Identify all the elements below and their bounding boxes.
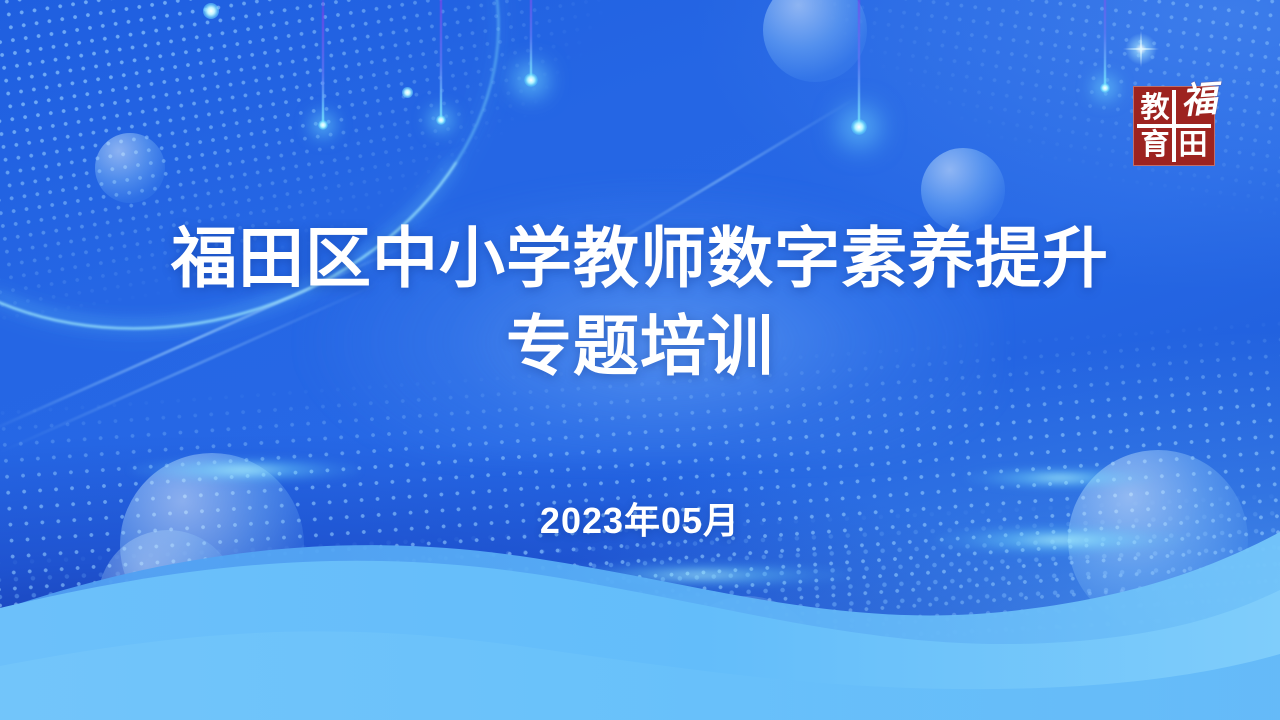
- seal-char-jiao: 教: [1138, 91, 1172, 124]
- light-streak-3: [530, 0, 532, 82]
- seal-char-fu-overlay: 福: [1174, 74, 1223, 125]
- sphere-upper-left: [95, 133, 165, 203]
- streak-bead: [1100, 83, 1110, 93]
- slide-title-line-2: 专题培训: [0, 302, 1280, 390]
- light-streak-4: [858, 0, 860, 130]
- streak-bead: [524, 73, 538, 87]
- streak-line: [858, 0, 860, 130]
- futian-education-seal-logo: 教 育 田 福: [1133, 86, 1215, 166]
- slide-title: 福田区中小学教师数字素养提升 专题培训: [0, 214, 1280, 390]
- bead-center: [402, 87, 413, 98]
- light-streak-2: [440, 0, 442, 120]
- slide-date: 2023年05月: [0, 492, 1280, 544]
- streak-line: [440, 0, 442, 120]
- streak-bead: [436, 115, 446, 125]
- streak-line: [322, 0, 324, 125]
- streak-line: [1104, 0, 1106, 88]
- streak-bead: [318, 120, 328, 130]
- light-streak-5: [1104, 0, 1106, 88]
- slide-title-line-1: 福田区中小学教师数字素养提升: [0, 214, 1280, 302]
- seal-char-yu: 育: [1138, 128, 1172, 161]
- seal-char-tian: 田: [1176, 128, 1210, 161]
- sparkle-top-right: [1123, 31, 1159, 67]
- streak-bead: [851, 119, 867, 135]
- seal-divider-horizontal: [1137, 124, 1211, 128]
- light-streak-1: [322, 0, 324, 125]
- bead-top-left: [203, 3, 219, 19]
- streak-line: [530, 0, 532, 82]
- title-slide: 福田区中小学教师数字素养提升 专题培训 2023年05月 教 育 田 福: [0, 0, 1280, 720]
